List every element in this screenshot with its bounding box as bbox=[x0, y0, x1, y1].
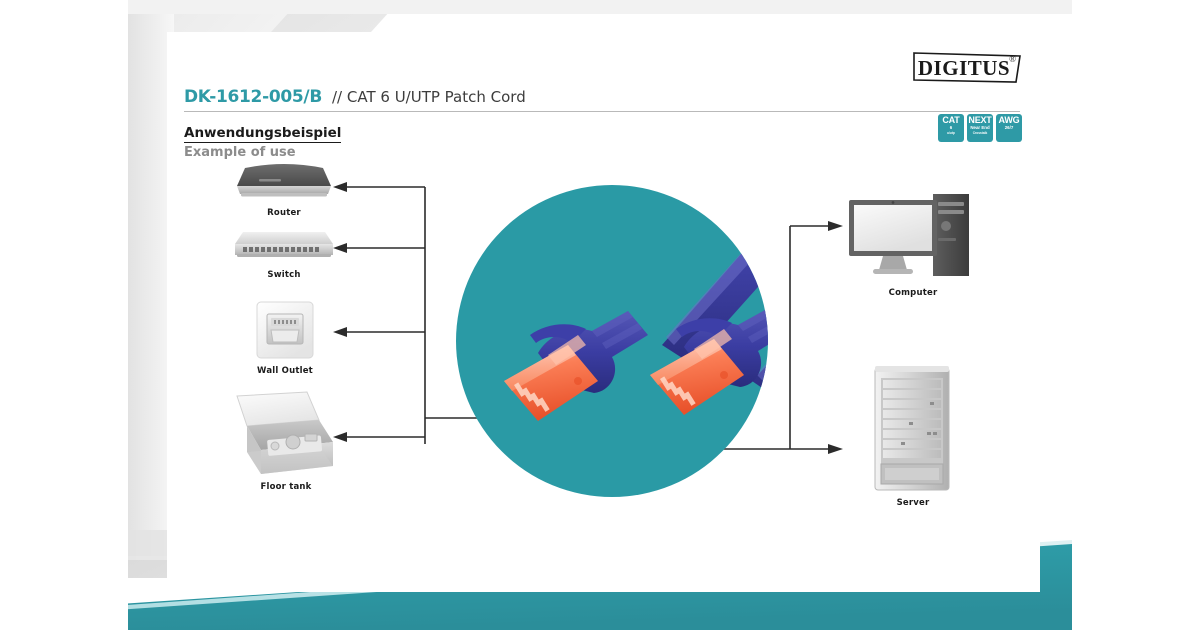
device-computer-label: Computer bbox=[833, 288, 993, 298]
device-server: Server bbox=[863, 364, 963, 512]
computer-icon bbox=[843, 192, 983, 284]
device-router: Router bbox=[229, 160, 339, 220]
wall-outlet-icon bbox=[235, 300, 335, 362]
patch-cord-illustration bbox=[452, 185, 772, 497]
device-floor-tank-label: Floor tank bbox=[206, 482, 366, 492]
device-server-label: Server bbox=[833, 498, 993, 508]
switch-icon bbox=[229, 222, 339, 266]
device-floor-tank: Floor tank bbox=[221, 390, 351, 494]
product-sheet-card: DIGITUS ® DK-1612-005/B // CAT 6 U/UTP P… bbox=[167, 32, 1040, 592]
device-switch-label: Switch bbox=[204, 270, 364, 280]
product-image-patch-cord bbox=[452, 185, 772, 497]
server-icon bbox=[863, 364, 963, 496]
arrow-head-right bbox=[828, 221, 843, 454]
device-router-label: Router bbox=[204, 208, 364, 218]
device-wall-outlet: Wall Outlet bbox=[235, 300, 335, 376]
device-computer: Computer bbox=[843, 192, 983, 300]
router-icon bbox=[229, 160, 339, 204]
device-switch: Switch bbox=[229, 222, 339, 282]
application-diagram: Router bbox=[167, 32, 1040, 592]
device-wall-outlet-label: Wall Outlet bbox=[205, 366, 365, 376]
floor-tank-icon bbox=[221, 390, 351, 482]
